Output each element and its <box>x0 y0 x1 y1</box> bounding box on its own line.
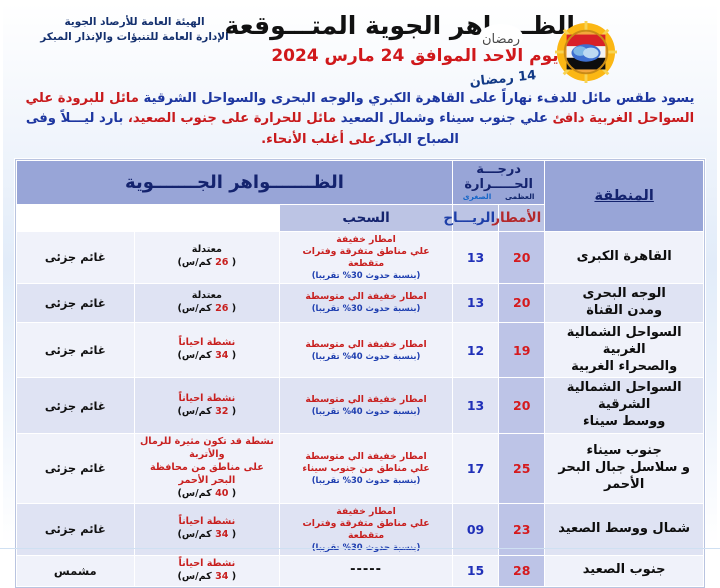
column-header-cloud: السحب <box>280 204 453 231</box>
summary-segment-6: على أغلب الأنحاء. <box>261 132 376 147</box>
org-authority-name: الهيئة العامة للأرصاد الجوية <box>17 15 252 30</box>
forecast-table-container: المنطقة درجـــة الحـــــرارة العظمى الصغ… <box>15 159 705 587</box>
cell-temp-min: 13 <box>452 284 498 323</box>
cell-cloud: غائم جزئى <box>17 231 135 283</box>
wind-description: نشطة احياناً <box>138 393 277 406</box>
wind-speed: ( 40 كم/س) <box>138 488 277 501</box>
rain-probability: (بنسبة حدوث 40% تقريبا) <box>283 351 449 362</box>
region-line: ووسط سيناء <box>548 414 700 431</box>
region-line: شمال ووسط الصعيد <box>548 521 700 538</box>
cell-wind: معتدلة( 26 كم/س) <box>134 231 280 283</box>
cell-temp-max: 19 <box>499 322 545 378</box>
region-line: و سلاسل جبال البحر الأحمر <box>548 460 700 494</box>
forecast-page: الهيئة العامة للأرصاد الجوية الإدارة الع… <box>0 0 720 548</box>
svg-text:رمضان: رمضان <box>482 32 520 47</box>
cell-rain: امطار خفيفة الي متوسطة(بنسبة حدوث 30% تق… <box>280 284 453 323</box>
table-header-row-top: المنطقة درجـــة الحـــــرارة العظمى الصغ… <box>17 161 704 204</box>
table-row: الوجه البحرىومدن القناة2013امطار خفيفة ا… <box>17 284 704 323</box>
region-line: السواحل الشمالية الشرقية <box>548 380 700 414</box>
cell-region: السواحل الشمالية الشرقيةووسط سيناء <box>545 378 704 434</box>
cell-wind: نشطة احياناً( 34 كم/س) <box>134 555 280 586</box>
cell-region: جنوب سيناءو سلاسل جبال البحر الأحمر <box>545 434 704 504</box>
wind-description: نشطة احياناً <box>138 337 277 350</box>
wind-description: نشطة احياناً <box>138 516 277 529</box>
table-row: جنوب سيناءو سلاسل جبال البحر الأحمر2517ا… <box>17 434 704 504</box>
wind-speed-value: 34 <box>215 529 228 540</box>
cell-wind: معتدلة( 26 كم/س) <box>134 284 280 323</box>
rain-probability: (بنسبة حدوث 30% تقريبا) <box>283 475 449 486</box>
rain-description-line1: امطار خفيفة الي متوسطة <box>283 339 449 351</box>
cell-rain: امطار خفيفةعلي مناطق متفرقة وفترات متقطع… <box>280 231 453 283</box>
cell-cloud: غائم جزئى <box>17 284 135 323</box>
wind-speed-value: 34 <box>215 350 228 361</box>
temp-max-label: العظمى <box>505 193 535 201</box>
wind-speed-unit: كم/س) <box>178 488 216 499</box>
cell-cloud: غائم جزئى <box>17 378 135 434</box>
summary-segment-3: علي جنوب سيناء وشمال الصعيد <box>341 111 548 126</box>
region-line: جنوب سيناء <box>548 443 700 460</box>
rain-description-line2: علي مناطق متفرقة وفترات متقطعة <box>283 246 449 270</box>
cell-region: الوجه البحرىومدن القناة <box>545 284 704 323</box>
rain-description-line1: امطار خفيفة الي متوسطة <box>283 394 449 406</box>
table-row: السواحل الشمالية الشرقيةووسط سيناء2013ام… <box>17 378 704 434</box>
org-department-name: الإدارة العامة للتنبؤات والإنذار المبكر <box>17 30 252 45</box>
cell-temp-max: 20 <box>499 231 545 283</box>
column-header-temperature: درجـــة الحـــــرارة العظمى الصغرى <box>452 161 544 204</box>
cell-temp-max: 25 <box>499 434 545 504</box>
wind-speed: ( 34 كم/س) <box>138 571 277 584</box>
summary-segment-1: يسود طقس مائل للدفء نهاراً على القاهرة ا… <box>144 91 695 106</box>
cell-wind: نشطة احياناً( 32 كم/س) <box>134 378 280 434</box>
region-line: السواحل الشمالية الغربية <box>548 325 700 359</box>
region-line: القاهرة الكبرى <box>548 249 700 266</box>
forecast-summary: يسود طقس مائل للدفء نهاراً على القاهرة ا… <box>13 89 707 150</box>
cell-cloud: غائم جزئى <box>17 434 135 504</box>
rain-description-line2: علي مناطق متفرقة وفترات متقطعة <box>283 518 449 542</box>
cell-region: القاهرة الكبرى <box>545 231 704 283</box>
egyptian-meteorological-authority-logo <box>555 21 617 83</box>
summary-segment-4: مائل للحرارة على جنوب الصعيد، <box>123 111 340 126</box>
wind-description: معتدلة <box>138 244 277 257</box>
rain-probability: (بنسبة حدوث 30% تقريبا) <box>283 303 449 314</box>
wind-speed-unit: كم/س) <box>178 529 216 540</box>
wind-speed: ( 26 كم/س) <box>138 257 277 270</box>
cell-rain: ----- <box>280 555 453 586</box>
organization-block: الهيئة العامة للأرصاد الجوية الإدارة الع… <box>17 15 252 45</box>
column-header-wind: الريـــاح <box>452 204 498 231</box>
wind-speed-value: 32 <box>215 406 228 417</box>
table-row: جنوب الصعيد2815-----نشطة احياناً( 34 كم/… <box>17 555 704 586</box>
rain-description-line1: امطار خفيفة <box>283 234 449 246</box>
rain-description-line1: امطار خفيفة الي متوسطة <box>283 451 449 463</box>
rain-probability: (بنسبة حدوث 40% تقريبا) <box>283 406 449 417</box>
wind-speed-unit: كم/س) <box>178 303 216 314</box>
table-row: القاهرة الكبرى2013امطار خفيفةعلي مناطق م… <box>17 231 704 283</box>
column-header-region: المنطقة <box>545 161 704 231</box>
cell-wind: نشطة قد تكون مثيرة للرمال والأتربةعلى من… <box>134 434 280 504</box>
cell-region: السواحل الشمالية الغربيةوالصحراء الغربية <box>545 322 704 378</box>
wind-speed-value: 26 <box>215 303 228 314</box>
wind-speed-value: 26 <box>215 257 228 268</box>
rain-probability: (بنسبة حدوث 30% تقريبا) <box>283 270 449 281</box>
rain-description-line1: امطار خفيفة الي متوسطة <box>283 291 449 303</box>
wind-speed: ( 34 كم/س) <box>138 529 277 542</box>
rain-description-line2: علي مناطق من جنوب سيناء <box>283 463 449 475</box>
wind-description: نشطة قد تكون مثيرة للرمال والأتربة <box>138 436 277 462</box>
wind-speed: ( 32 كم/س) <box>138 406 277 419</box>
wind-speed-value: 34 <box>215 571 228 582</box>
wind-speed-value: 40 <box>215 488 228 499</box>
rain-none-dash: ----- <box>283 562 449 579</box>
cell-region: جنوب الصعيد <box>545 555 704 586</box>
table-head: المنطقة درجـــة الحـــــرارة العظمى الصغ… <box>17 161 704 231</box>
cell-wind: نشطة احياناً( 34 كم/س) <box>134 322 280 378</box>
cell-temp-min: 13 <box>452 378 498 434</box>
cell-temp-min: 15 <box>452 555 498 586</box>
cell-temp-max: 20 <box>499 378 545 434</box>
wind-description: على مناطق من محافظة البحر الأحمر <box>138 462 277 488</box>
column-header-rain: الأمطار <box>499 204 545 231</box>
cell-temp-min: 17 <box>452 434 498 504</box>
wind-speed: ( 26 كم/س) <box>138 303 277 316</box>
column-header-weather-phenomena: الظـــــــواهر الجـــــــوية <box>17 161 453 204</box>
temp-header-line2: الحـــــرارة <box>456 178 541 193</box>
table-row: السواحل الشمالية الغربيةوالصحراء الغربية… <box>17 322 704 378</box>
cell-rain: امطار خفيفة الي متوسطة(بنسبة حدوث 40% تق… <box>280 378 453 434</box>
wind-description: معتدلة <box>138 290 277 303</box>
region-line: جنوب الصعيد <box>548 562 700 579</box>
wind-speed-unit: كم/س) <box>178 350 216 361</box>
cell-rain: امطار خفيفة الي متوسطةعلي مناطق من جنوب … <box>280 434 453 504</box>
cell-rain: امطار خفيفة الي متوسطة(بنسبة حدوث 40% تق… <box>280 322 453 378</box>
region-line: الوجه البحرى <box>548 286 700 303</box>
ramadan-crescent-logo: رمضان 14 رمضان <box>443 19 539 81</box>
wind-speed-unit: كم/س) <box>178 406 216 417</box>
cell-cloud: غائم جزئى <box>17 322 135 378</box>
cell-temp-min: 12 <box>452 322 498 378</box>
region-line: ومدن القناة <box>548 303 700 320</box>
wind-speed: ( 34 كم/س) <box>138 350 277 363</box>
region-line: والصحراء الغربية <box>548 359 700 376</box>
cell-cloud: مشمس <box>17 555 135 586</box>
temp-min-label: الصغرى <box>463 193 492 201</box>
temp-header-line1: درجـــة <box>456 163 541 178</box>
forecast-table: المنطقة درجـــة الحـــــرارة العظمى الصغ… <box>16 160 704 586</box>
wind-description: نشطة احياناً <box>138 558 277 571</box>
cell-temp-max: 20 <box>499 284 545 323</box>
table-body: القاهرة الكبرى2013امطار خفيفةعلي مناطق م… <box>17 231 704 586</box>
cell-temp-max: 28 <box>499 555 545 586</box>
rain-description-line1: امطار خفيفة <box>283 506 449 518</box>
wind-speed-unit: كم/س) <box>178 257 216 268</box>
cell-temp-min: 13 <box>452 231 498 283</box>
wind-speed-unit: كم/س) <box>178 571 216 582</box>
page-header: الهيئة العامة للأرصاد الجوية الإدارة الع… <box>3 3 717 87</box>
